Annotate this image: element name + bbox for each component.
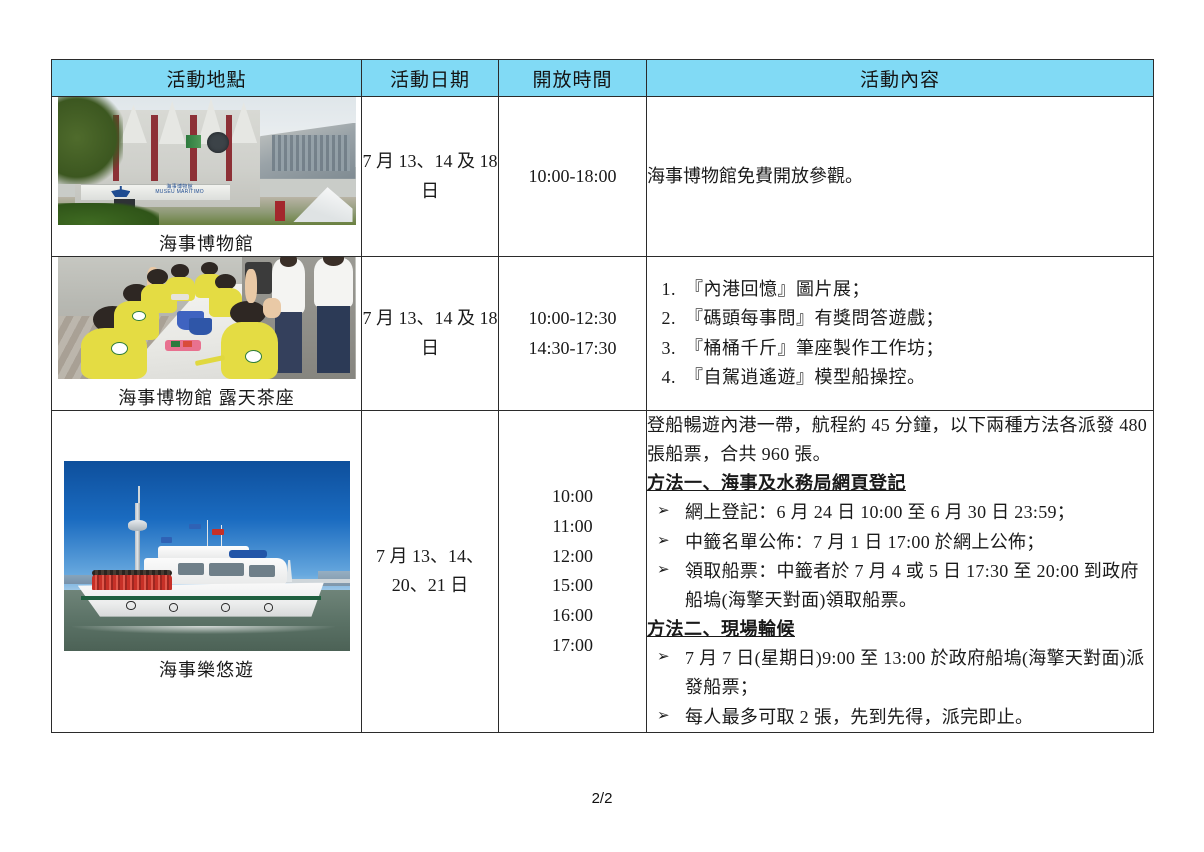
date-cell: 7 月 13、14 及 18 日 (362, 97, 499, 257)
place-caption: 海事樂悠遊 (52, 656, 361, 682)
list-item-text: 7 月 7 日(星期日)9:00 至 13:00 於政府船塢(海擎天對面)派發船… (685, 648, 1144, 697)
list-item-text: 每人最多可取 2 張，先到先得，派完即止。 (685, 707, 1033, 727)
detail-cell: 海事博物館免費開放參觀。 (647, 97, 1154, 257)
detail-cell: 登船暢遊內港一帶，航程約 45 分鐘，以下兩種方法各派發 480 張船票，合共 … (647, 411, 1154, 733)
table-row: 海事博物館 露天茶座 7 月 13、14 及 18 日 10:00-12:30 … (52, 257, 1154, 411)
time-entry: 14:30-17:30 (499, 334, 646, 364)
place-caption: 海事博物館 (52, 230, 361, 256)
detail-cell: 『內港回憶』圖片展； 『碼頭每事問』有獎問答遊戲； 『桶桶千斤』筆座製作工作坊；… (647, 257, 1154, 411)
time-entry: 12:00 (499, 542, 646, 572)
detail-text: 海事博物館免費開放參觀。 (647, 162, 1153, 191)
list-item: 『碼頭每事問』有獎問答遊戲； (681, 304, 1153, 333)
column-header-content: 活動內容 (647, 60, 1154, 97)
time-entry: 11:00 (499, 512, 646, 542)
list-item: 『自駕逍遙遊』模型船操控。 (681, 363, 1153, 392)
tour-boat-photo (64, 461, 350, 651)
table-header-row: 活動地點 活動日期 開放時間 活動內容 (52, 60, 1154, 97)
arrow-bullet-icon: ➢ (657, 703, 670, 727)
arrow-bullet-icon: ➢ (657, 498, 670, 522)
arrow-bullet-icon: ➢ (657, 644, 670, 668)
table-row: 海事樂悠遊 7 月 13、14、20、21 日 10:00 11:00 12:0… (52, 411, 1154, 733)
table-row: 海事博物館MUSEU MARÍTIMO 海事博物館 7 月 13、14 及 18… (52, 97, 1154, 257)
detail-lead-text: 登船暢遊內港一帶，航程約 45 分鐘，以下兩種方法各派發 480 張船票，合共 … (647, 411, 1153, 469)
date-cell: 7 月 13、14 及 18 日 (362, 257, 499, 411)
arrow-bullet-icon: ➢ (657, 557, 670, 581)
time-entry: 16:00 (499, 601, 646, 631)
method-one-heading: 方法一、海事及水務局網頁登記 (647, 469, 1153, 498)
method-two-list: ➢7 月 7 日(星期日)9:00 至 13:00 於政府船塢(海擎天對面)派發… (647, 644, 1153, 731)
list-item-text: 領取船票：中籤者於 7 月 4 或 5 日 17:30 至 20:00 到政府船… (685, 561, 1139, 610)
place-cell: 海事博物館 露天茶座 (52, 257, 362, 411)
maritime-museum-building-photo: 海事博物館MUSEU MARÍTIMO (58, 97, 356, 225)
time-cell: 10:00-18:00 (499, 97, 647, 257)
list-item: ➢中籤名單公佈：7 月 1 日 17:00 於網上公佈； (647, 528, 1153, 557)
activity-schedule-table: 活動地點 活動日期 開放時間 活動內容 (51, 59, 1154, 733)
time-cell: 10:00-12:30 14:30-17:30 (499, 257, 647, 411)
time-cell: 10:00 11:00 12:00 15:00 16:00 17:00 (499, 411, 647, 733)
column-header-date: 活動日期 (362, 60, 499, 97)
document-page: 活動地點 活動日期 開放時間 活動內容 (0, 0, 1204, 852)
list-item-text: 中籤名單公佈：7 月 1 日 17:00 於網上公佈； (685, 532, 1045, 552)
time-entry: 10:00 (499, 482, 646, 512)
column-header-time: 開放時間 (499, 60, 647, 97)
list-item: 『內港回憶』圖片展； (681, 275, 1153, 304)
list-item: ➢網上登記：6 月 24 日 10:00 至 6 月 30 日 23:59； (647, 498, 1153, 527)
activity-list: 『內港回憶』圖片展； 『碼頭每事問』有獎問答遊戲； 『桶桶千斤』筆座製作工作坊；… (647, 275, 1153, 392)
list-item-text: 網上登記：6 月 24 日 10:00 至 6 月 30 日 23:59； (685, 502, 1075, 522)
place-cell: 海事博物館MUSEU MARÍTIMO 海事博物館 (52, 97, 362, 257)
place-caption: 海事博物館 露天茶座 (52, 384, 361, 410)
page-number-footer: 2/2 (0, 790, 1204, 807)
date-cell: 7 月 13、14、20、21 日 (362, 411, 499, 733)
time-entry: 17:00 (499, 631, 646, 661)
list-item: ➢7 月 7 日(星期日)9:00 至 13:00 於政府船塢(海擎天對面)派發… (647, 644, 1153, 702)
column-header-place: 活動地點 (52, 60, 362, 97)
list-item: ➢每人最多可取 2 張，先到先得，派完即止。 (647, 703, 1153, 732)
method-one-list: ➢網上登記：6 月 24 日 10:00 至 6 月 30 日 23:59； ➢… (647, 498, 1153, 615)
place-cell: 海事樂悠遊 (52, 411, 362, 733)
arrow-bullet-icon: ➢ (657, 528, 670, 552)
time-entry: 10:00-18:00 (499, 162, 646, 192)
children-workshop-photo (58, 257, 356, 379)
list-item: ➢領取船票：中籤者於 7 月 4 或 5 日 17:30 至 20:00 到政府… (647, 557, 1153, 615)
time-entry: 15:00 (499, 571, 646, 601)
time-entry: 10:00-12:30 (499, 304, 646, 334)
method-two-heading: 方法二、現場輪候 (647, 615, 1153, 644)
list-item: 『桶桶千斤』筆座製作工作坊； (681, 334, 1153, 363)
